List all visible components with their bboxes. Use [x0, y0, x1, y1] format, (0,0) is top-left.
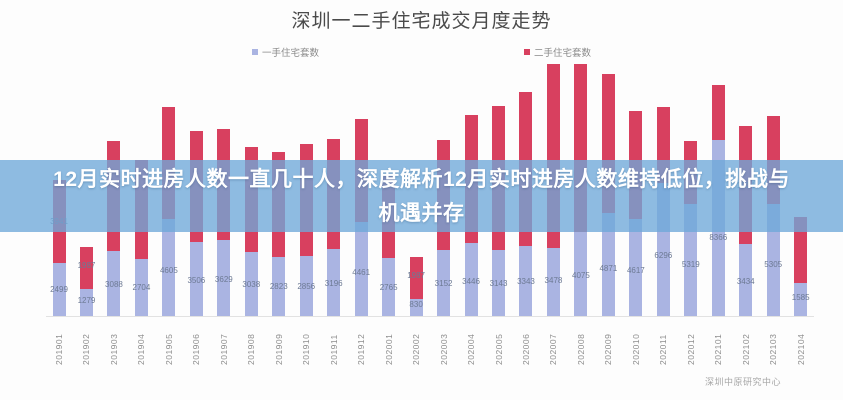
bar-segment-first-hand [712, 140, 725, 316]
bar-value-label: 4871 [599, 264, 617, 273]
bar-value-label: 3143 [490, 279, 508, 288]
chart-legend: 一手住宅套数 二手住宅套数 [0, 45, 843, 59]
bar-value-label: 6296 [654, 251, 672, 260]
x-axis-tick-label: 202010 [631, 319, 641, 365]
x-axis-tick: 201902 [73, 319, 99, 365]
bar-value-label: 2765 [380, 283, 398, 292]
x-axis-tick-labels: 2019012019022019032019042019052019062019… [46, 319, 814, 365]
x-axis-tick-label: 202009 [603, 319, 613, 365]
bar-column: 3196 [321, 64, 347, 316]
bar-column: 3152 [431, 64, 457, 316]
legend-item-first: 一手住宅套数 [252, 45, 319, 59]
x-axis-tick-label: 202003 [439, 319, 449, 365]
x-axis-tick: 202003 [431, 319, 457, 365]
bar-value-label-second: 1987 [407, 271, 425, 280]
x-axis-tick: 201905 [156, 319, 182, 365]
x-axis-tick: 202102 [733, 319, 759, 365]
screenshot-stage: 深圳一二手住宅成交月度走势 一手住宅套数 二手住宅套数 249939411279… [0, 0, 843, 400]
bar-segment-second-hand [355, 119, 368, 222]
legend-swatch-second [524, 49, 530, 55]
bar-column: 34341934 [733, 64, 759, 316]
bar-segment-second-hand [574, 64, 587, 232]
x-axis-tick: 201911 [321, 319, 347, 365]
bar-column: 4075 [568, 64, 594, 316]
bar-column: 3143 [486, 64, 512, 316]
bar-segment-second-hand [245, 147, 258, 252]
bar-column: 2704 [128, 64, 154, 316]
bar-segment-second-hand [382, 176, 395, 258]
x-axis-tick-label: 202004 [466, 319, 476, 365]
x-axis-tick-label: 202103 [768, 319, 778, 365]
bar-value-label: 2856 [297, 282, 315, 291]
bar-segment-second-hand [657, 107, 670, 183]
bar-value-label: 2499 [50, 285, 68, 294]
bar-column: 1585 [788, 64, 814, 316]
legend-label-second: 二手住宅套数 [534, 45, 591, 59]
bar-value-label: 3506 [187, 276, 205, 285]
bar-value-label: 3038 [242, 280, 260, 289]
bar-value-label: 4075 [572, 271, 590, 280]
x-axis-tick: 202104 [788, 319, 814, 365]
bar-segment-second-hand [190, 131, 203, 242]
bar-column: 6296 [650, 64, 676, 316]
bar-value-label: 3629 [215, 275, 233, 284]
bar-value-label-second: 1987 [78, 261, 96, 270]
bar-column: 3478 [540, 64, 566, 316]
x-axis-tick-label: 202008 [576, 319, 586, 365]
x-axis-tick-label: 202007 [548, 319, 558, 365]
legend-item-second: 二手住宅套数 [524, 45, 591, 59]
x-axis-tick: 201910 [293, 319, 319, 365]
bar-column: 2856 [293, 64, 319, 316]
x-axis-tick: 201904 [128, 319, 154, 365]
bar-column: 4605 [156, 64, 182, 316]
bar-segment-second-hand [437, 140, 450, 250]
x-axis-tick-label: 202002 [411, 319, 421, 365]
x-axis-tick: 202012 [678, 319, 704, 365]
x-axis-tick-label: 202102 [741, 319, 751, 365]
bar-column: 12791987 [73, 64, 99, 316]
bar-segment-second-hand [272, 152, 285, 257]
bar-value-label: 4617 [627, 266, 645, 275]
bar-value-label: 3088 [105, 280, 123, 289]
x-axis-tick: 201909 [266, 319, 292, 365]
bar-value-label: 3343 [517, 277, 535, 286]
bar-column: 3506 [183, 64, 209, 316]
x-axis-tick: 202010 [623, 319, 649, 365]
x-axis-tick: 202002 [403, 319, 429, 365]
bar-column: 3446 [458, 64, 484, 316]
bar-column: 3629 [211, 64, 237, 316]
bar-segment-second-hand [465, 115, 478, 244]
bar-value-label: 4461 [352, 268, 370, 277]
bar-segment-second-hand [629, 111, 642, 219]
x-axis-tick-label: 201905 [164, 319, 174, 365]
x-axis-tick-label: 201909 [274, 319, 284, 365]
x-axis-tick: 202006 [513, 319, 539, 365]
bar-column: 3038 [238, 64, 264, 316]
bar-segment-second-hand [684, 141, 697, 204]
bar-group: 2499394112791987308827044605350636293038… [46, 64, 814, 316]
bar-value-label: 3434 [737, 277, 755, 286]
bar-segment-second-hand [492, 106, 505, 249]
x-axis-tick-label: 201912 [356, 319, 366, 365]
x-axis-tick: 201901 [46, 319, 72, 365]
chart-plot-area: 2499394112791987308827044605350636293038… [46, 64, 814, 317]
legend-swatch-first [252, 49, 258, 55]
bar-segment-second-hand [547, 64, 560, 248]
bar-segment-second-hand [327, 139, 340, 249]
bar-value-label: 4605 [160, 266, 178, 275]
legend-label-first: 一手住宅套数 [262, 45, 319, 59]
bar-value-label: 1585 [792, 293, 810, 302]
x-axis-tick: 202101 [705, 319, 731, 365]
x-axis-tick-label: 202104 [796, 319, 806, 365]
bar-value-label: 3196 [325, 279, 343, 288]
x-axis-tick: 202009 [595, 319, 621, 365]
bar-value-label: 5319 [682, 260, 700, 269]
bar-value-label: 8366 [709, 233, 727, 242]
x-axis-tick-label: 202006 [521, 319, 531, 365]
bar-value-label: 1279 [78, 296, 96, 305]
bar-column: 2823 [266, 64, 292, 316]
bar-value-label: 2823 [270, 282, 288, 291]
x-axis-tick-label: 202001 [384, 319, 394, 365]
bar-column: 5305 [760, 64, 786, 316]
chart-title: 深圳一二手住宅成交月度走势 [0, 6, 843, 33]
x-axis-tick-label: 202005 [494, 319, 504, 365]
x-axis-tick-label: 202011 [658, 319, 668, 365]
x-axis-tick: 202004 [458, 319, 484, 365]
bar-segment-second-hand [162, 107, 175, 219]
x-axis-tick: 202103 [760, 319, 786, 365]
x-axis-tick: 202001 [376, 319, 402, 365]
x-axis-tick-label: 201903 [109, 319, 119, 365]
x-axis-tick-label: 202101 [713, 319, 723, 365]
bar-column: 8301987 [403, 64, 429, 316]
bar-segment-second-hand [217, 129, 230, 240]
bar-value-label: 830 [409, 300, 422, 309]
x-axis-tick: 202007 [540, 319, 566, 365]
x-axis-tick: 201908 [238, 319, 264, 365]
bar-segment-second-hand [300, 144, 313, 256]
bar-segment-second-hand [712, 85, 725, 140]
bar-value-label: 5305 [764, 260, 782, 269]
bar-column: 3343 [513, 64, 539, 316]
bar-value-label-second: 1934 [737, 181, 755, 190]
bar-column: 8366 [705, 64, 731, 316]
x-axis-tick: 201906 [183, 319, 209, 365]
x-axis-tick-label: 201904 [136, 319, 146, 365]
x-axis-tick-label: 201906 [191, 319, 201, 365]
x-axis-tick-label: 201910 [301, 319, 311, 365]
bar-segment-second-hand [794, 217, 807, 282]
x-axis-tick: 201903 [101, 319, 127, 365]
bar-value-label: 3446 [462, 277, 480, 286]
x-axis-tick-label: 201901 [54, 319, 64, 365]
bar-value-label: 3478 [545, 276, 563, 285]
x-axis-tick: 202005 [486, 319, 512, 365]
bar-column: 4871 [595, 64, 621, 316]
x-axis-tick: 202008 [568, 319, 594, 365]
bar-segment-second-hand [107, 141, 120, 251]
bar-value-label: 2704 [133, 283, 151, 292]
bar-value-label-second: 3941 [50, 217, 68, 226]
bar-segment-first-hand [657, 183, 670, 316]
bar-column: 24993941 [46, 64, 72, 316]
bar-segment-second-hand [135, 160, 148, 259]
x-axis-line [46, 316, 814, 317]
x-axis-tick: 201912 [348, 319, 374, 365]
bar-value-label: 3152 [435, 279, 453, 288]
source-note: 深圳中原研究中心 [705, 375, 781, 388]
x-axis-tick: 201907 [211, 319, 237, 365]
bar-column: 4461 [348, 64, 374, 316]
x-axis-tick-label: 201911 [329, 319, 339, 365]
x-axis-tick-label: 201908 [246, 319, 256, 365]
bar-column: 5319 [678, 64, 704, 316]
bar-segment-second-hand [767, 116, 780, 205]
bar-column: 3088 [101, 64, 127, 316]
x-axis-tick: 202011 [650, 319, 676, 365]
bar-segment-second-hand [519, 92, 532, 246]
x-axis-tick-label: 201907 [219, 319, 229, 365]
bar-segment-second-hand [602, 74, 615, 213]
x-axis-tick-label: 202012 [686, 319, 696, 365]
x-axis-tick-label: 201902 [81, 319, 91, 365]
bar-column: 2765 [376, 64, 402, 316]
bar-column: 4617 [623, 64, 649, 316]
